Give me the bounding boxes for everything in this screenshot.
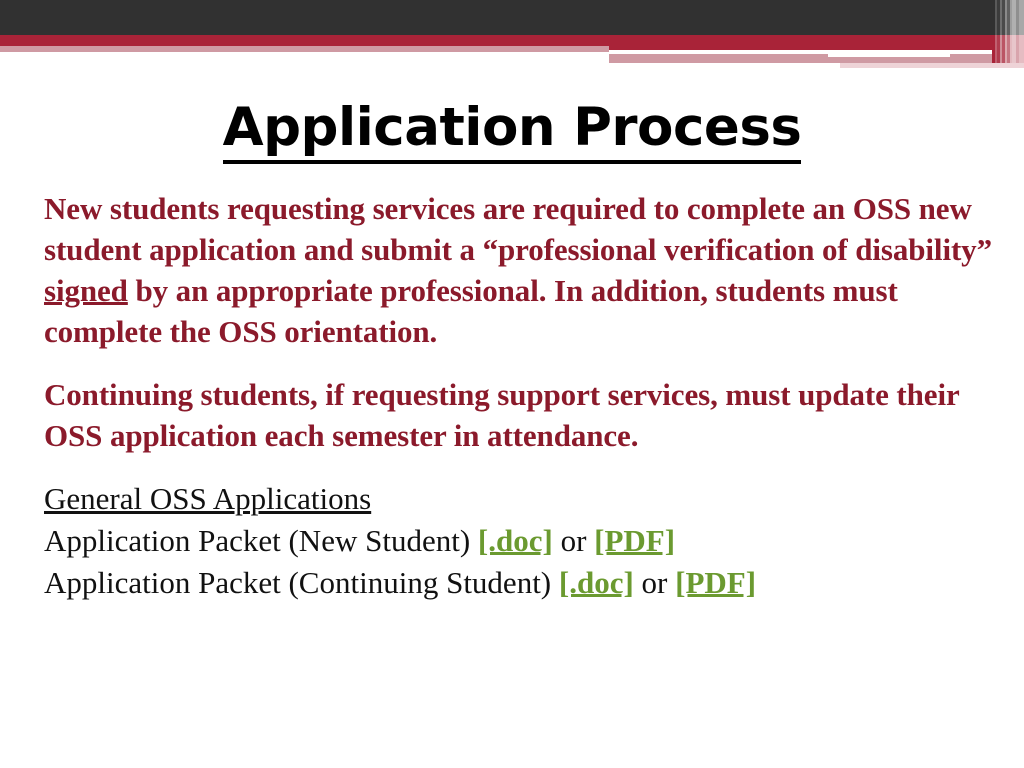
paragraph-part: New students requesting services are req…	[44, 191, 992, 267]
header-crimson-band-right	[609, 35, 1024, 50]
new-student-pdf-link[interactable]: [PDF]	[594, 523, 675, 558]
header-white-highlight-stripe	[828, 53, 950, 57]
general-oss-applications-section: General OSS Applications Application Pac…	[44, 478, 996, 604]
continuing-student-doc-link[interactable]: [.doc]	[559, 565, 634, 600]
header-crimson-band-left	[0, 35, 609, 46]
new-student-doc-link[interactable]: [.doc]	[478, 523, 553, 558]
header-dark-band	[0, 0, 1024, 35]
row-label: Application Packet (New Student)	[44, 523, 478, 558]
application-packet-new-student-row: Application Packet (New Student) [.doc] …	[44, 520, 996, 562]
links-section-heading: General OSS Applications	[44, 478, 996, 520]
page-title: Application Process	[0, 98, 1024, 158]
row-separator: or	[634, 565, 675, 600]
row-separator: or	[553, 523, 594, 558]
slide-content: New students requesting services are req…	[44, 188, 996, 604]
continuing-student-pdf-link[interactable]: [PDF]	[675, 565, 756, 600]
row-label: Application Packet (Continuing Student)	[44, 565, 559, 600]
header-pink-band-left	[0, 46, 609, 52]
paragraph-part: Continuing students, if requesting suppo…	[44, 377, 959, 453]
paragraph-continuing-students: Continuing students, if requesting suppo…	[44, 374, 996, 456]
header-edge-stripes	[992, 0, 1024, 70]
application-packet-continuing-student-row: Application Packet (Continuing Student) …	[44, 562, 996, 604]
edge-stripe-upper	[1019, 0, 1024, 35]
page-title-text: Application Process	[223, 97, 802, 164]
slide-header-decoration	[0, 0, 1024, 70]
paragraph-part-underlined: signed	[44, 273, 128, 308]
paragraph-part: by an appropriate professional. In addit…	[44, 273, 898, 349]
header-pink-band-right	[609, 54, 1024, 63]
edge-stripe-lower	[1019, 35, 1024, 63]
paragraph-new-students: New students requesting services are req…	[44, 188, 996, 352]
